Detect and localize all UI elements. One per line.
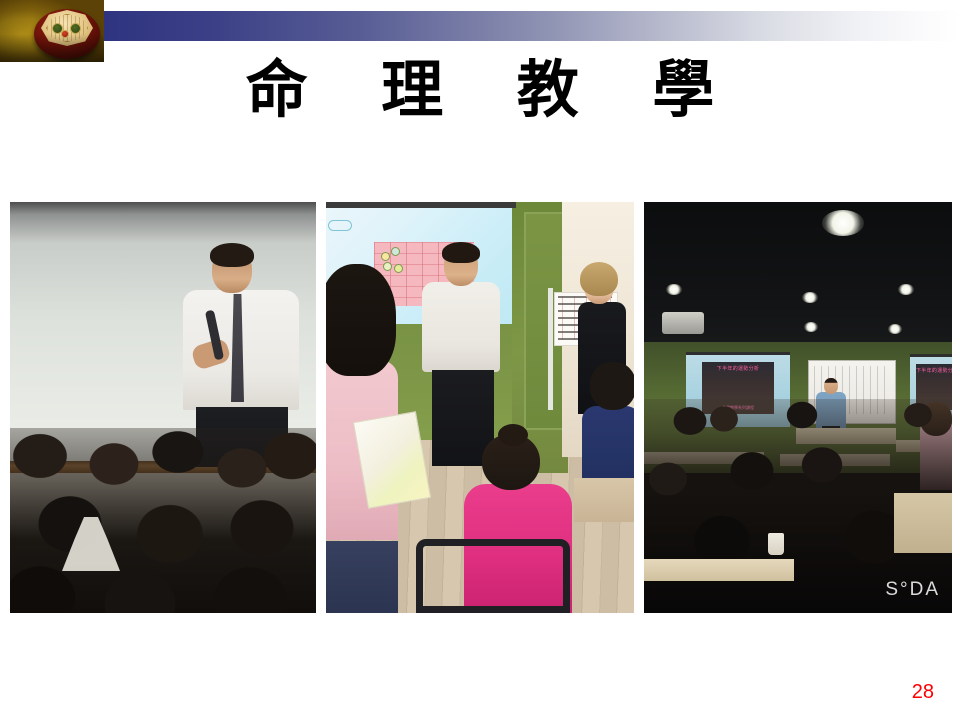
- ceiling-light-icon: [888, 324, 902, 334]
- ceiling-light-icon: [822, 210, 864, 236]
- p2-presenter-hair: [580, 262, 618, 296]
- p2-chair: [416, 539, 570, 613]
- p2-seated-student-body: [582, 406, 634, 486]
- p2-desk: [574, 478, 634, 522]
- p3-instructor-head: [824, 378, 838, 394]
- projector-icon: [662, 312, 704, 334]
- p3-ceiling: [644, 202, 952, 358]
- p2-pink-shirt-student-bun: [498, 424, 528, 446]
- soda-watermark: S°DA: [885, 579, 940, 601]
- p2-standing-student-hair: [326, 264, 396, 376]
- p2-seated-student-head: [590, 362, 634, 410]
- header-gradient-bar: [104, 11, 960, 41]
- p2-flipchart-stand: [548, 288, 553, 410]
- p1-speaker-hair: [210, 243, 254, 267]
- p2-instructor-shirt: [422, 282, 500, 372]
- ceiling-light-icon: [898, 284, 914, 295]
- p3-slide-title-right: 下半年的運勢分析: [916, 367, 952, 374]
- p3-front-row-table: [644, 559, 794, 581]
- ceiling-light-icon: [666, 284, 682, 295]
- ceiling-light-icon: [802, 292, 818, 303]
- p2-slide-marker: [391, 247, 400, 256]
- bagua-dot: [70, 23, 81, 34]
- luopan-compass-logo: [0, 0, 104, 62]
- p2-slide-marker: [394, 264, 403, 273]
- page-title: 命 理 教 學: [0, 56, 960, 124]
- p2-standing-student-trousers: [326, 541, 398, 613]
- p2-instructor-hair: [442, 242, 480, 263]
- photo-2-classroom-lesson: [326, 202, 634, 613]
- p2-slide-marker: [381, 252, 390, 261]
- p2-screen-housing: [326, 202, 516, 208]
- p3-slide-title: 下半年的運勢分析: [702, 365, 774, 372]
- photo-1-speaker-with-microphone: [10, 202, 316, 613]
- p3-side-table: [894, 493, 952, 553]
- p3-paper-cup: [768, 533, 784, 555]
- p2-slide-pill: [328, 220, 352, 231]
- bagua-dial-icon: [41, 10, 93, 46]
- bagua-needle: [61, 30, 69, 38]
- p2-slide-marker: [383, 262, 392, 271]
- p1-audience: [10, 428, 316, 613]
- ceiling-light-icon: [804, 322, 818, 332]
- photo-gallery: 下半年的運勢分析 命理教學系列課程 下半年的運勢分析 S°DA: [10, 202, 952, 613]
- photo-3-lecture-hall: 下半年的運勢分析 命理教學系列課程 下半年的運勢分析 S°DA: [644, 202, 952, 613]
- page-number: 28: [912, 681, 934, 704]
